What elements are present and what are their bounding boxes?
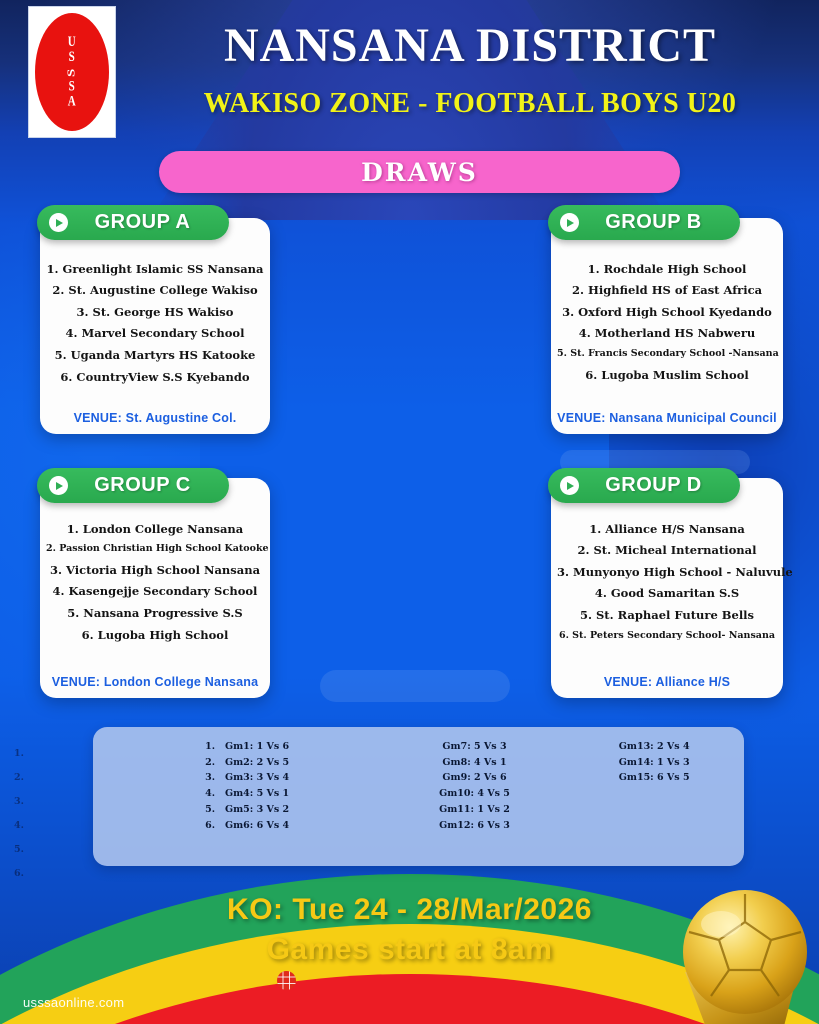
group-a-team-list: 1. Greenlight Islamic SS Nansana 2. St. … <box>40 258 270 388</box>
draws-banner: DRAWS <box>159 151 680 193</box>
team-item: 1. Greenlight Islamic SS Nansana <box>46 258 264 280</box>
fixture-row: Gm9: 2 Vs 6 <box>442 771 506 787</box>
fixture-label: Gm14: 1 Vs 3 <box>619 758 690 768</box>
fixture-label: Gm10: 4 Vs 5 <box>439 789 510 799</box>
group-b-venue: VENUE: Nansana Municipal Council <box>551 411 783 425</box>
logo-letters: U S S S A <box>68 35 76 109</box>
decorative-bar-1 <box>320 670 510 702</box>
fixture-index: 6. <box>205 821 215 831</box>
fixture-index: 3. <box>205 773 215 783</box>
logo-letter-s1: S <box>68 50 76 65</box>
fixture-edge-numbers: 1. 2. 3. 4. 5. 6. <box>14 742 24 885</box>
fixture-label: Gm11: 1 Vs 2 <box>439 805 510 815</box>
fixtures-column-2: Gm7: 5 Vs 3 Gm8: 4 Vs 1 Gm9: 2 Vs 6 Gm10… <box>385 739 565 856</box>
group-c-header: GROUP C <box>37 468 229 503</box>
play-circle-icon <box>49 476 68 495</box>
fixture-index: 1. <box>205 742 215 752</box>
group-c-label: GROUP C <box>78 474 207 497</box>
fixtures-column-3: Gm13: 2 Vs 4 Gm14: 1 Vs 3 Gm15: 6 Vs 5 <box>564 739 744 856</box>
fixture-row: 5. Gm5: 3 Vs 2 <box>205 802 289 818</box>
team-item: 2. St. Micheal International <box>557 540 777 562</box>
logo-letter-s2: S <box>66 66 77 77</box>
fixture-row: Gm12: 6 Vs 3 <box>439 818 510 834</box>
group-b-header: GROUP B <box>548 205 740 240</box>
fixture-row: 3. Gm3: 3 Vs 4 <box>205 771 289 787</box>
team-item: 3. Oxford High School Kyedando <box>557 301 777 323</box>
website-url: usssaonline.com <box>23 995 124 1010</box>
team-item: 5. Uganda Martyrs HS Katooke <box>46 345 264 367</box>
team-item: 5. St. Francis Secondary School -Nansana <box>557 345 777 364</box>
draws-banner-label: DRAWS <box>361 158 478 187</box>
edge-number: 4. <box>14 814 24 838</box>
play-circle-icon <box>560 476 579 495</box>
fixture-row: Gm10: 4 Vs 5 <box>439 786 510 802</box>
team-item: 1. Rochdale High School <box>557 258 777 280</box>
logo-letter-s3: S <box>68 79 76 94</box>
team-item: 4. Kasengejje Secondary School <box>46 581 264 603</box>
fixture-index: 5. <box>205 805 215 815</box>
team-item: 6. St. Peters Secondary School- Nansana <box>557 626 777 645</box>
globe-icon <box>277 971 296 990</box>
logo-ellipse: U S S S A <box>35 13 109 131</box>
fixture-label: Gm7: 5 Vs 3 <box>442 742 506 752</box>
fixture-index: 4. <box>205 789 215 799</box>
fixtures-columns: 1. Gm1: 1 Vs 6 2. Gm2: 2 Vs 5 3. Gm3: 3 … <box>93 727 744 866</box>
group-d-header: GROUP D <box>548 468 740 503</box>
team-item: 1. London College Nansana <box>46 518 264 540</box>
team-item: 2. Highfield HS of East Africa <box>557 280 777 302</box>
fixture-row: Gm11: 1 Vs 2 <box>439 802 510 818</box>
fixture-row: Gm13: 2 Vs 4 <box>619 739 690 755</box>
fixture-row: 6. Gm6: 6 Vs 4 <box>205 818 289 834</box>
team-item: 2. Passion Christian High School Katooke <box>46 540 264 559</box>
team-item: 3. St. George HS Wakiso <box>46 301 264 323</box>
fixture-row: Gm15: 6 Vs 5 <box>619 771 690 787</box>
fixture-label: Gm2: 2 Vs 5 <box>225 758 289 768</box>
golden-football-trophy-icon <box>633 880 819 1024</box>
edge-number: 3. <box>14 790 24 814</box>
group-card-c: 1. London College Nansana 2. Passion Chr… <box>40 478 270 698</box>
team-item: 3. Munyonyo High School - Naluvule <box>557 561 777 583</box>
team-item: 5. St. Raphael Future Bells <box>557 605 777 627</box>
edge-number: 1. <box>14 742 24 766</box>
fixture-row: 1. Gm1: 1 Vs 6 <box>205 739 289 755</box>
fixtures-column-1: 1. Gm1: 1 Vs 6 2. Gm2: 2 Vs 5 3. Gm3: 3 … <box>93 739 385 856</box>
fixture-row: Gm8: 4 Vs 1 <box>442 755 506 771</box>
poster-title: NANSANA DISTRICT <box>140 18 800 73</box>
fixture-row: 2. Gm2: 2 Vs 5 <box>205 755 289 771</box>
group-b-team-list: 1. Rochdale High School 2. Highfield HS … <box>551 258 783 386</box>
team-item: 6. Lugoba High School <box>46 624 264 646</box>
group-a-header: GROUP A <box>37 205 229 240</box>
group-card-b: 1. Rochdale High School 2. Highfield HS … <box>551 218 783 434</box>
group-a-venue: VENUE: St. Augustine Col. <box>40 411 270 425</box>
edge-number: 6. <box>14 861 24 885</box>
team-item: 6. CountryView S.S Kyebando <box>46 366 264 388</box>
poster-subtitle: WAKISO ZONE - FOOTBALL BOYS U20 <box>140 88 800 120</box>
fixture-label: Gm9: 2 Vs 6 <box>442 773 506 783</box>
team-item: 4. Marvel Secondary School <box>46 323 264 345</box>
group-d-label: GROUP D <box>589 474 718 497</box>
edge-number: 5. <box>14 838 24 862</box>
fixture-label: Gm3: 3 Vs 4 <box>225 773 289 783</box>
team-item: 4. Good Samaritan S.S <box>557 583 777 605</box>
fixture-label: Gm13: 2 Vs 4 <box>619 742 690 752</box>
play-circle-icon <box>49 213 68 232</box>
group-c-venue: VENUE: London College Nansana <box>40 675 270 689</box>
group-d-venue: VENUE: Alliance H/S <box>551 675 783 689</box>
team-item: 2. St. Augustine College Wakiso <box>46 280 264 302</box>
group-b-label: GROUP B <box>589 211 718 234</box>
fixtures-panel: 1. Gm1: 1 Vs 6 2. Gm2: 2 Vs 5 3. Gm3: 3 … <box>93 727 744 866</box>
fixture-row: 4. Gm4: 5 Vs 1 <box>205 786 289 802</box>
fixture-index: 2. <box>205 758 215 768</box>
poster-canvas: U S S S A NANSANA DISTRICT WAKISO ZONE -… <box>0 0 819 1024</box>
group-d-team-list: 1. Alliance H/S Nansana 2. St. Micheal I… <box>551 518 783 646</box>
fixture-row: Gm7: 5 Vs 3 <box>442 739 506 755</box>
fixture-label: Gm6: 6 Vs 4 <box>225 821 289 831</box>
fixture-label: Gm5: 3 Vs 2 <box>225 805 289 815</box>
team-item: 3. Victoria High School Nansana <box>46 559 264 581</box>
group-a-label: GROUP A <box>78 211 207 234</box>
fixture-label: Gm12: 6 Vs 3 <box>439 821 510 831</box>
logo-letter-a: A <box>68 94 76 109</box>
group-card-a: 1. Greenlight Islamic SS Nansana 2. St. … <box>40 218 270 434</box>
team-item: 1. Alliance H/S Nansana <box>557 518 777 540</box>
logo-letter-u: U <box>68 35 76 50</box>
play-circle-icon <box>560 213 579 232</box>
fixture-label: Gm15: 6 Vs 5 <box>619 773 690 783</box>
group-c-team-list: 1. London College Nansana 2. Passion Chr… <box>40 518 270 646</box>
edge-number: 2. <box>14 766 24 790</box>
usssa-logo: U S S S A <box>28 6 116 138</box>
team-item: 6. Lugoba Muslim School <box>557 364 777 386</box>
fixture-label: Gm1: 1 Vs 6 <box>225 742 289 752</box>
team-item: 5. Nansana Progressive S.S <box>46 602 264 624</box>
group-card-d: 1. Alliance H/S Nansana 2. St. Micheal I… <box>551 478 783 698</box>
fixture-label: Gm8: 4 Vs 1 <box>442 758 506 768</box>
team-item: 4. Motherland HS Nabweru <box>557 323 777 345</box>
fixture-row: Gm14: 1 Vs 3 <box>619 755 690 771</box>
fixture-label: Gm4: 5 Vs 1 <box>225 789 289 799</box>
